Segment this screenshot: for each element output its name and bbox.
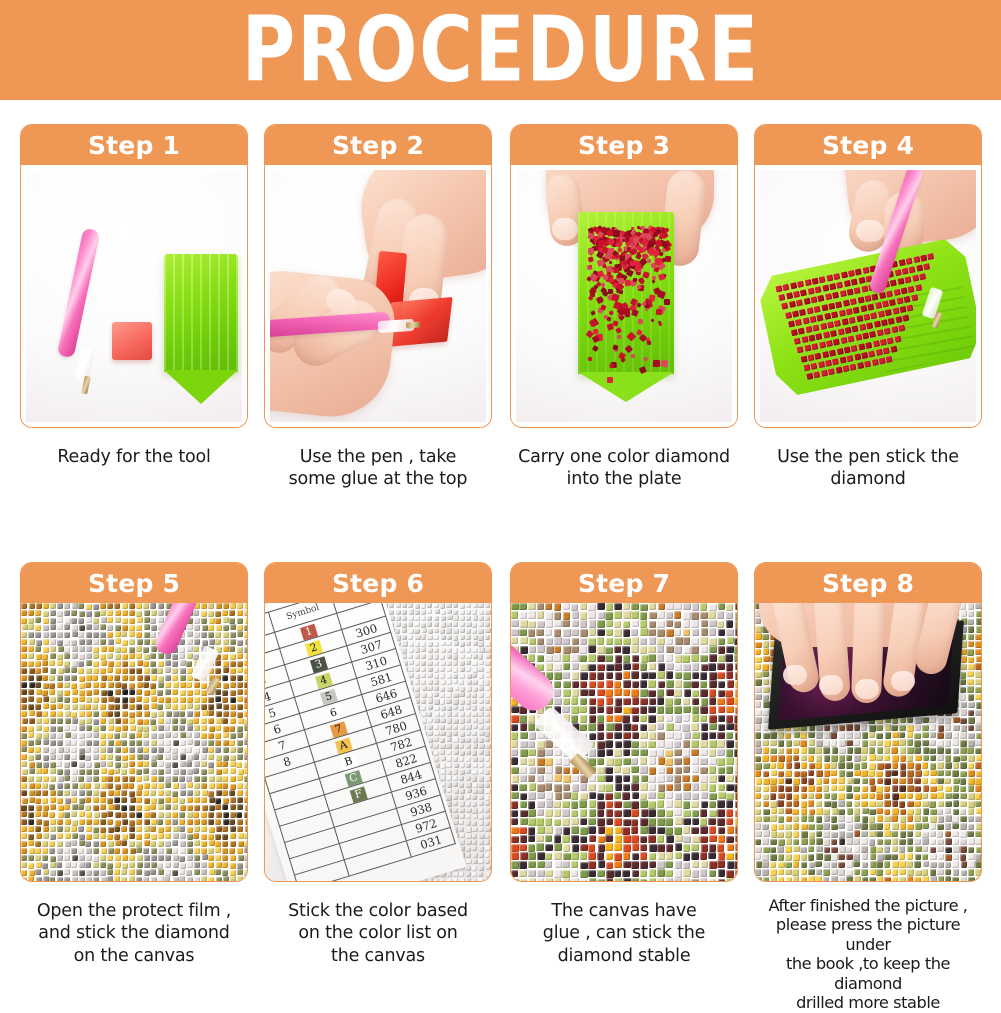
red-drill (882, 300, 889, 307)
mosaic-bead (691, 612, 699, 620)
mosaic-bead (71, 761, 77, 767)
mosaic-bead (137, 855, 143, 861)
mosaic-bead (173, 855, 179, 861)
red-drill (786, 293, 793, 300)
mosaic-bead (72, 870, 78, 876)
mosaic-bead (201, 776, 207, 782)
mosaic-bead (215, 632, 221, 638)
mosaic-bead (71, 610, 77, 616)
mosaic-bead (734, 715, 737, 723)
mosaic-bead (709, 646, 717, 654)
pen-metal-tip (406, 322, 420, 329)
mosaic-bead (35, 790, 41, 796)
mosaic-bead (21, 639, 27, 645)
mosaic-bead (605, 835, 613, 843)
mosaic-bead (778, 732, 785, 739)
mosaic-bead (230, 870, 236, 876)
mosaic-bead (21, 740, 27, 746)
mosaic-bead (580, 612, 588, 620)
mosaic-bead (100, 682, 106, 688)
mosaic-bead (460, 700, 465, 705)
mosaic-bead (975, 778, 981, 785)
mosaic-bead (100, 632, 106, 638)
red-drill (795, 319, 802, 326)
mosaic-bead (86, 870, 92, 876)
mosaic-bead (85, 805, 91, 811)
mosaic-bead (884, 740, 891, 747)
step-card-2[interactable]: Step 2 (264, 124, 492, 428)
mosaic-bead (580, 793, 588, 801)
mosaic-bead (453, 757, 458, 762)
mosaic-bead (735, 663, 737, 671)
mosaic-bead (479, 776, 484, 781)
red-drill (597, 240, 603, 246)
mosaic-bead (479, 610, 484, 615)
mosaic-bead (107, 811, 113, 817)
mosaic-bead (453, 878, 458, 881)
mosaic-bead (230, 624, 236, 630)
step-label-3: Step 3 (578, 133, 670, 158)
mosaic-bead (466, 693, 471, 698)
red-drill (850, 364, 857, 371)
step-card-5[interactable]: Step 5 (20, 562, 248, 882)
mosaic-bead (64, 869, 70, 875)
mosaic-bead (563, 603, 571, 610)
red-drill (901, 287, 908, 294)
mosaic-bead (717, 663, 725, 671)
mosaic-bead (72, 661, 78, 667)
mosaic-bead (839, 831, 846, 838)
mosaic-bead (93, 797, 99, 803)
mosaic-bead (86, 604, 92, 610)
mosaic-bead (763, 830, 770, 837)
mosaic-bead (222, 675, 228, 681)
mosaic-bead (486, 686, 491, 691)
mosaic-bead (85, 755, 91, 761)
mosaic-bead (862, 778, 869, 785)
mosaic-bead (35, 747, 41, 753)
mosaic-bead (683, 766, 691, 774)
mosaic-bead (21, 746, 27, 752)
mosaic-bead (960, 801, 967, 808)
mosaic-bead (824, 725, 831, 732)
mosaic-bead (93, 653, 99, 659)
mosaic-bead (459, 776, 464, 781)
mosaic-bead (847, 808, 854, 815)
mosaic-bead (86, 646, 92, 652)
mosaic-bead (21, 754, 27, 760)
mosaic-bead (107, 711, 113, 717)
mosaic-bead (485, 801, 490, 806)
step-card-1[interactable]: Step 1 (20, 124, 248, 428)
mosaic-bead (597, 801, 605, 809)
mosaic-bead (717, 809, 725, 817)
mosaic-bead (815, 793, 822, 800)
mosaic-bead (734, 723, 737, 731)
mosaic-bead (165, 862, 171, 868)
mosaic-bead (892, 778, 899, 785)
mosaic-bead (614, 611, 622, 619)
mosaic-bead (230, 697, 236, 703)
mosaic-bead (172, 791, 178, 797)
mosaic-bead (114, 733, 120, 739)
mosaic-bead (129, 812, 135, 818)
mosaic-bead (930, 862, 937, 869)
mosaic-bead (180, 682, 186, 688)
mosaic-bead (223, 667, 229, 673)
mosaic-bead (892, 762, 899, 769)
step-image-8 (755, 603, 981, 881)
mosaic-bead (755, 664, 761, 671)
mosaic-bead (968, 611, 975, 618)
mosaic-bead (79, 754, 85, 760)
mosaic-bead (520, 775, 528, 783)
mosaic-bead (151, 819, 157, 825)
mosaic-bead (718, 792, 726, 800)
mosaic-bead (529, 732, 537, 740)
mosaic-bead (143, 768, 149, 774)
mosaic-bead (528, 818, 536, 826)
mosaic-bead (144, 675, 150, 681)
mosaic-bead (230, 833, 236, 839)
mosaic-bead (151, 712, 157, 718)
mosaic-bead (86, 660, 92, 666)
mosaic-bead (726, 818, 734, 826)
mosaic-bead (194, 790, 200, 796)
mosaic-bead (466, 814, 471, 819)
mosaic-bead (606, 715, 614, 723)
mosaic-bead (666, 603, 674, 610)
mosaic-bead (114, 768, 120, 774)
mosaic-bead (165, 804, 171, 810)
mosaic-bead (222, 761, 228, 767)
mosaic-bead (816, 824, 823, 831)
mosaic-bead (884, 747, 891, 754)
red-drill (830, 330, 837, 337)
mosaic-bead (846, 785, 853, 792)
mosaic-bead (172, 870, 178, 876)
mosaic-bead (658, 784, 666, 792)
mosaic-bead (107, 667, 113, 673)
mosaic-bead (21, 704, 27, 710)
mosaic-bead (960, 672, 967, 679)
mosaic-bead (93, 740, 99, 746)
mosaic-bead (29, 710, 35, 716)
mosaic-bead (846, 732, 853, 739)
mosaic-bead (467, 686, 472, 691)
mosaic-bead (546, 800, 554, 808)
mosaic-bead (237, 625, 243, 631)
mosaic-bead (511, 715, 519, 723)
mosaic-bead (179, 869, 185, 875)
red-drill (840, 290, 847, 297)
red-drill (865, 341, 872, 348)
mosaic-bead (786, 762, 793, 769)
mosaic-bead (143, 848, 149, 854)
red-drill (875, 302, 882, 309)
mosaic-bead (763, 763, 770, 770)
mosaic-bead (808, 778, 815, 785)
mosaic-bead (623, 835, 631, 843)
mosaic-bead (473, 724, 478, 729)
mosaic-bead (237, 819, 243, 825)
step-card-6[interactable]: Step 6 SerialSymbolDMC112230033307443105… (264, 562, 492, 882)
mosaic-bead (79, 877, 85, 881)
mosaic-bead (57, 848, 63, 854)
step-card-8[interactable]: Step 8 (754, 562, 982, 882)
mosaic-bead (657, 671, 665, 679)
mosaic-bead (785, 778, 792, 785)
mosaic-bead (631, 826, 639, 834)
mosaic-bead (244, 847, 247, 853)
mosaic-bead (229, 848, 235, 854)
mosaic-bead (479, 763, 484, 768)
mosaic-bead (869, 801, 876, 808)
red-drill (821, 370, 828, 377)
mosaic-bead (244, 697, 247, 703)
tray-ribs (164, 254, 238, 372)
mosaic-bead (245, 639, 248, 645)
mosaic-bead (945, 869, 952, 876)
mosaic-bead (640, 826, 648, 834)
mosaic-bead (923, 808, 930, 815)
mosaic-bead (876, 823, 883, 830)
mosaic-bead (862, 853, 869, 860)
mosaic-bead (975, 694, 981, 701)
mosaic-bead (717, 860, 725, 868)
mosaic-bead (658, 603, 666, 610)
mosaic-bead (143, 704, 149, 710)
mosaic-bead (519, 827, 527, 835)
mosaic-bead (975, 831, 981, 838)
red-drill (631, 353, 635, 357)
mosaic-bead (485, 859, 490, 864)
mosaic-bead (215, 855, 221, 861)
mosaic-bead (129, 841, 135, 847)
mosaic-bead (485, 616, 490, 621)
mosaic-bead (208, 819, 214, 825)
red-drill (615, 327, 622, 334)
mosaic-bead (415, 654, 420, 659)
red-drill (883, 347, 890, 354)
mosaic-bead (614, 638, 622, 646)
mosaic-bead (777, 800, 784, 807)
mosaic-bead (755, 839, 761, 846)
mosaic-bead (194, 840, 200, 846)
mosaic-bead (434, 725, 439, 730)
mosaic-bead (86, 776, 92, 782)
mosaic-bead (453, 731, 458, 736)
mosaic-bead (165, 732, 171, 738)
mosaic-bead (187, 782, 193, 788)
mosaic-bead (623, 749, 631, 757)
mosaic-bead (709, 810, 717, 818)
mosaic-bead (43, 632, 49, 638)
mosaic-bead (528, 611, 536, 619)
mosaic-bead (554, 870, 562, 878)
mosaic-bead (151, 696, 157, 702)
mosaic-bead (216, 755, 222, 761)
mosaic-bead (244, 625, 247, 631)
mosaic-bead (414, 622, 419, 627)
mosaic-bead (478, 788, 483, 793)
mosaic-bead (216, 761, 222, 767)
mosaic-bead (478, 878, 483, 881)
mosaic-bead (158, 769, 164, 775)
mosaic-bead (71, 826, 77, 832)
red-drill (814, 371, 821, 378)
mosaic-bead (122, 855, 128, 861)
mosaic-bead (50, 632, 56, 638)
mosaic-bead (876, 801, 883, 808)
mosaic-bead (244, 855, 247, 861)
step-card-7[interactable]: Step 7 (510, 562, 738, 882)
mosaic-bead (976, 611, 981, 618)
mosaic-bead (49, 812, 55, 818)
mosaic-bead (614, 629, 622, 637)
mosaic-bead (683, 792, 691, 800)
mosaic-bead (165, 870, 171, 876)
mosaic-bead (563, 767, 571, 775)
mosaic-bead (657, 732, 665, 740)
mosaic-bead (537, 621, 545, 629)
mosaic-bead (763, 679, 770, 686)
mosaic-bead (726, 809, 734, 817)
mosaic-bead (421, 642, 426, 647)
mosaic-bead (244, 675, 247, 681)
mosaic-bead (244, 870, 247, 876)
mosaic-bead (50, 748, 56, 754)
mosaic-bead (201, 834, 207, 840)
mosaic-bead (114, 876, 120, 881)
mosaic-bead (801, 801, 808, 808)
mosaic-bead (136, 834, 142, 840)
mosaic-bead (589, 715, 597, 723)
mosaic-bead (57, 718, 63, 724)
mosaic-bead (899, 778, 906, 785)
mosaic-bead (648, 680, 656, 688)
mosaic-bead (520, 758, 528, 766)
mosaic-bead (683, 757, 691, 765)
mosaic-bead (129, 610, 135, 616)
mosaic-bead (674, 646, 682, 654)
mosaic-bead (57, 617, 63, 623)
mosaic-bead (648, 724, 656, 732)
mosaic-bead (700, 878, 708, 881)
mosaic-bead (683, 844, 691, 852)
mosaic-bead (718, 681, 726, 689)
mosaic-bead (793, 778, 800, 785)
mosaic-bead (187, 848, 193, 854)
mosaic-bead (122, 625, 128, 631)
mosaic-bead (433, 737, 438, 742)
mosaic-bead (415, 647, 420, 652)
mosaic-bead (666, 723, 674, 731)
mosaic-bead (108, 696, 114, 702)
mosaic-bead (447, 750, 452, 755)
mosaic-bead (472, 866, 477, 871)
mosaic-bead (479, 686, 484, 691)
mosaic-bead (21, 697, 27, 703)
mosaic-bead (588, 861, 596, 869)
red-drill (612, 320, 618, 326)
mosaic-bead (809, 862, 816, 869)
mosaic-bead (114, 776, 120, 782)
red-drill (919, 274, 926, 281)
mosaic-bead (649, 612, 657, 620)
mosaic-bead (800, 732, 807, 739)
mosaic-bead (853, 854, 860, 861)
mosaic-bead (615, 655, 623, 663)
mosaic-bead (209, 726, 215, 732)
mosaic-bead (115, 617, 121, 623)
mosaic-bead (129, 876, 135, 881)
mosaic-bead (57, 870, 63, 876)
mosaic-bead (571, 706, 579, 714)
mosaic-bead (700, 783, 708, 791)
step-card-3[interactable]: Step 3 (510, 124, 738, 428)
red-drill (617, 247, 622, 252)
mosaic-bead (519, 629, 527, 637)
mosaic-bead (648, 646, 656, 654)
mosaic-bead (230, 718, 236, 724)
mosaic-bead (434, 616, 439, 621)
mosaic-bead (648, 672, 656, 680)
mosaic-bead (537, 645, 545, 653)
mosaic-bead (709, 723, 717, 731)
mosaic-bead (831, 793, 838, 800)
mosaic-bead (180, 690, 186, 696)
mosaic-bead (520, 620, 528, 628)
mosaic-bead (486, 872, 491, 877)
mosaic-bead (151, 625, 157, 631)
mosaic-bead (107, 625, 113, 631)
mosaic-bead (665, 818, 673, 826)
mosaic-bead (631, 819, 639, 827)
mosaic-bead (734, 749, 737, 757)
mosaic-bead (100, 704, 106, 710)
mosaic-bead (165, 667, 171, 673)
mosaic-bead (466, 808, 471, 813)
mosaic-bead (201, 725, 207, 731)
mosaic-bead (136, 689, 142, 695)
mosaic-bead (808, 815, 815, 822)
mosaic-bead (150, 826, 156, 832)
mosaic-bead (158, 711, 164, 717)
mosaic-bead (466, 648, 471, 653)
mosaic-bead (922, 740, 929, 747)
mosaic-bead (960, 793, 967, 800)
mosaic-bead (675, 664, 683, 672)
mosaic-bead (838, 809, 845, 816)
mosaic-bead (28, 840, 34, 846)
mosaic-bead (528, 852, 536, 860)
mosaic-bead (143, 740, 149, 746)
mosaic-bead (65, 819, 71, 825)
mosaic-bead (692, 690, 700, 698)
mosaic-bead (838, 854, 845, 861)
mosaic-bead (408, 603, 413, 608)
mosaic-bead (144, 617, 150, 623)
step-card-4[interactable]: Step 4 (754, 124, 982, 428)
mosaic-bead (572, 681, 580, 689)
mosaic-bead (115, 726, 121, 732)
mosaic-bead (230, 654, 236, 660)
mosaic-bead (718, 879, 726, 881)
mosaic-bead (166, 711, 172, 717)
mosaic-bead (691, 638, 699, 646)
red-drill-heap (578, 212, 674, 392)
